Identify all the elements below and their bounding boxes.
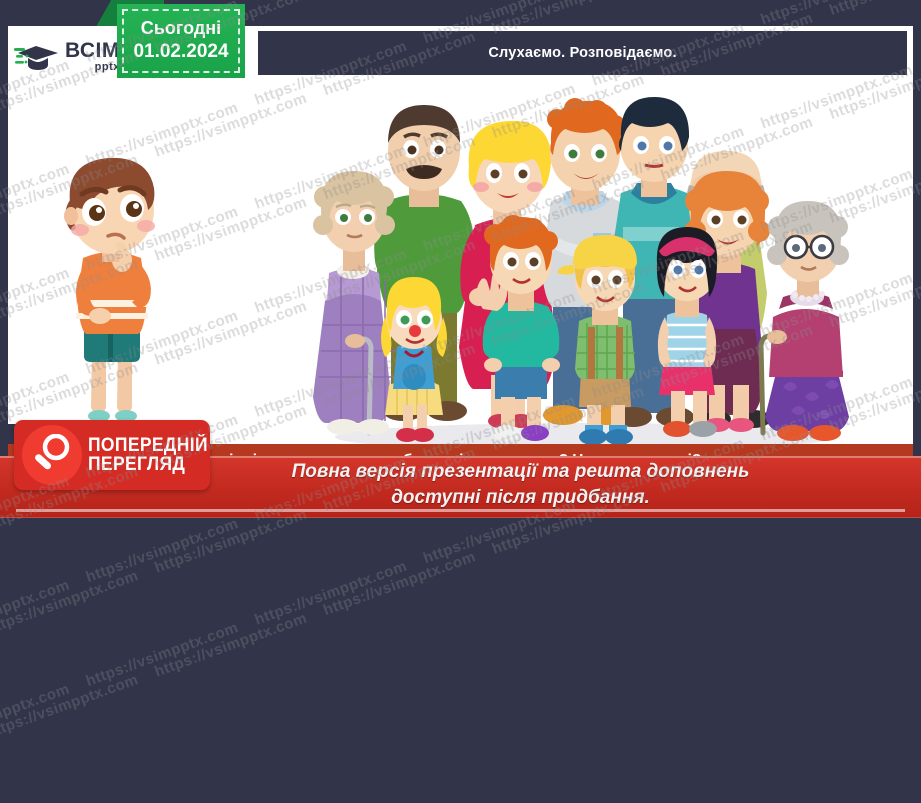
preview-banner-line2: доступні після придбання. [130, 485, 911, 511]
logo-title: ВСІМ [65, 40, 120, 61]
today-label: Сьогодні [141, 18, 221, 39]
today-date-badge: Сьогодні 01.02.2024 [117, 4, 245, 78]
today-date: 01.02.2024 [133, 41, 228, 64]
preview-banner-text: Повна версія презентації та решта доповн… [130, 459, 911, 510]
preview-banner-line1: Повна версія презентації та решта доповн… [130, 459, 911, 485]
family-illustration [305, 85, 865, 455]
slide-title-bar: Слухаємо. Розповідаємо. [258, 31, 907, 75]
slide-root: ВСІМ pptx Сьогодні 01.02.2024 Слухаємо. … [0, 0, 921, 518]
preview-badge: ПОПЕРЕДНІЙ ПЕРЕГЛЯД [14, 420, 210, 490]
page-title: Слухаємо. Розповідаємо. [488, 45, 676, 61]
banner-divider [16, 509, 905, 512]
thinking-boy-illustration [40, 150, 180, 440]
brand-logo: ВСІМ pptx [8, 26, 118, 86]
magnifier-icon [22, 425, 82, 485]
preview-badge-text: ПОПЕРЕДНІЙ ПЕРЕГЛЯД [88, 436, 218, 475]
preview-badge-line1: ПОПЕРЕДНІЙ [88, 436, 208, 455]
preview-badge-line2: ПЕРЕГЛЯД [88, 455, 208, 474]
graduation-cap-icon [14, 39, 60, 73]
